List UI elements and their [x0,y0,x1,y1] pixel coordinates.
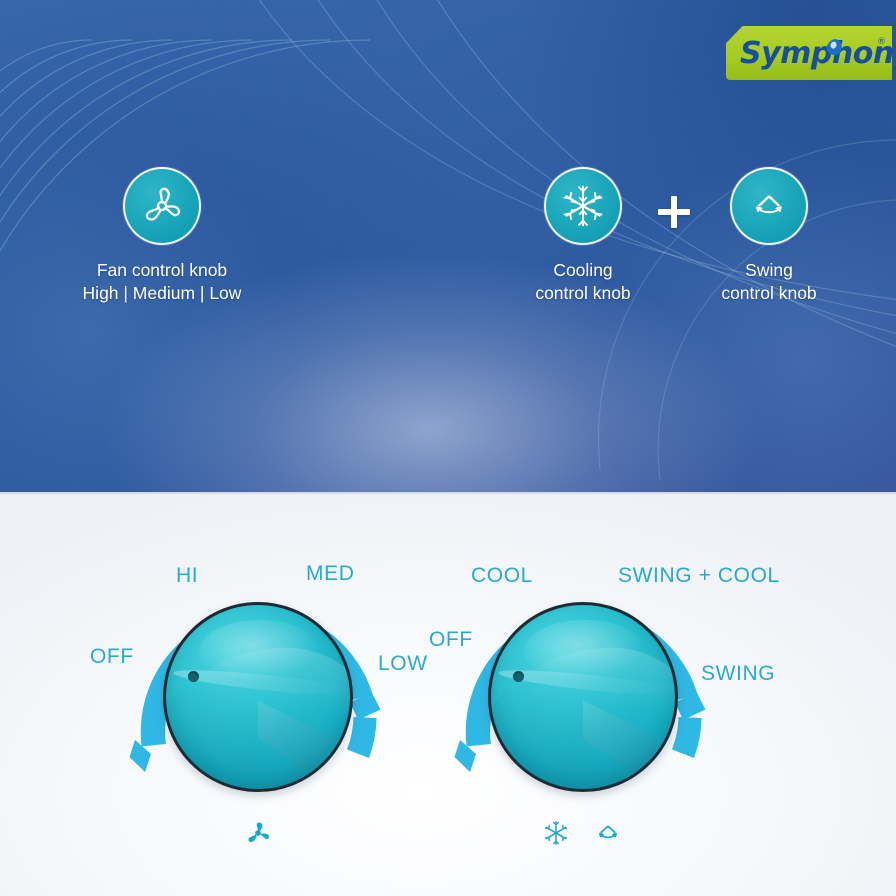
mode-label-cool[interactable]: COOL [471,564,533,588]
registered-mark: ® [877,37,886,47]
feature-label-swing: Swing control knob [680,259,858,306]
mode-label-swing[interactable]: SWING [701,662,775,686]
logo-wordmark: Symphony [740,36,896,71]
mode-label-off[interactable]: OFF [429,628,473,652]
fan-propeller-icon [243,818,273,848]
hero-banner: Symphony ® Fan control knob High | Mediu… [0,0,896,492]
mode-control-knob-assembly[interactable]: OFF COOL SWING + COOL SWING [413,510,753,870]
fan-label-off[interactable]: OFF [90,645,134,669]
fan-label-hi[interactable]: HI [176,564,198,588]
fan-control-knob-assembly[interactable]: OFF HI MED LOW [88,510,428,870]
feature-swing-control: Swing control knob [680,167,858,306]
knob-indicator-dot [513,671,524,682]
feature-icon-circle [544,167,622,245]
mode-knob-dial[interactable] [488,602,678,792]
knob-gloss [199,620,320,683]
snowflake-icon [542,819,570,847]
swing-louver-icon [745,182,793,230]
knob-gloss [524,620,645,683]
fan-knob-foot-icons [88,818,428,848]
symphony-logo: Symphony ® [726,26,892,80]
feature-icon-circle [123,167,201,245]
knob-indicator-dot [188,671,199,682]
feature-cooling-control: Cooling control knob [494,167,672,306]
feature-label-fan: Fan control knob High | Medium | Low [52,259,272,306]
control-panel-photo: OFF HI MED LOW [0,492,896,896]
feature-fan-control: Fan control knob High | Medium | Low [52,167,272,306]
feature-label-cooling: Cooling control knob [494,259,672,306]
feature-icon-circle [730,167,808,245]
fan-knob-dial[interactable] [163,602,353,792]
fan-propeller-icon [139,183,185,229]
mode-knob-foot-icons [413,818,753,848]
product-feature-image: Symphony ® Fan control knob High | Mediu… [0,0,896,896]
snowflake-icon [560,183,606,229]
fan-label-med[interactable]: MED [306,562,354,586]
mode-label-swing-cool[interactable]: SWING + COOL [618,564,780,588]
swing-louver-icon [592,818,624,848]
